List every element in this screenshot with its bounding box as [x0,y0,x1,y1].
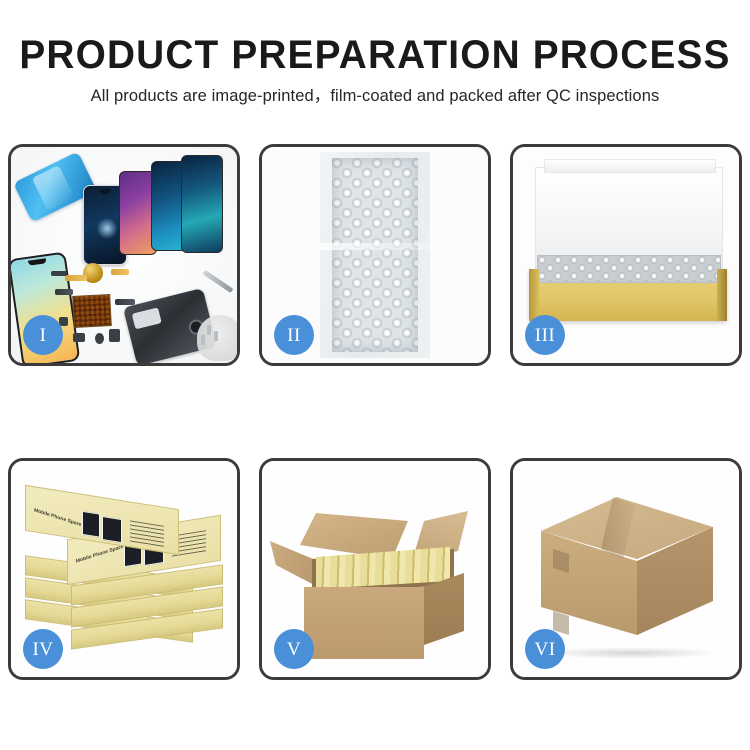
step-badge-2: II [274,315,314,355]
flex-cable-dark-icon [55,289,73,295]
step-badge-6: VI [525,629,565,669]
flex-cable-dark-icon [115,299,135,305]
flex-cable-icon [111,269,129,275]
component-icon [73,333,85,342]
step-panel-4[interactable]: Mobile Phone Spare Parts Mobile Phone Sp… [8,458,240,680]
carton-front-icon [304,587,424,659]
bubble-wrap-icon [320,152,430,358]
flex-cable-icon [65,275,87,281]
chip-array-icon [72,294,112,328]
component-icon [51,271,67,276]
step-panel-2[interactable]: II [259,144,491,366]
step-badge-4: IV [23,629,63,669]
step-badge-3: III [525,315,565,355]
step-panel-5[interactable]: V [259,458,491,680]
page-subtitle: All products are image-printed，film-coat… [0,77,750,106]
page-title: PRODUCT PREPARATION PROCESS [11,0,739,77]
header: PRODUCT PREPARATION PROCESS All products… [0,0,750,106]
process-steps-grid: I II III [8,144,742,684]
step-panel-1[interactable]: I [8,144,240,366]
battery-connector-icon [109,329,120,342]
bubble-wrapped-contents-icon [537,255,721,283]
camera-module-icon [95,333,104,344]
phone-teal-icon [181,155,223,253]
step-badge-5: V [274,629,314,669]
inner-box-tray-icon [529,269,727,321]
product-preparation-infographic: PRODUCT PREPARATION PROCESS All products… [0,0,750,750]
step-panel-3[interactable]: III [510,144,742,366]
step-badge-1: I [23,315,63,355]
step-panel-6[interactable]: VI [510,458,742,680]
